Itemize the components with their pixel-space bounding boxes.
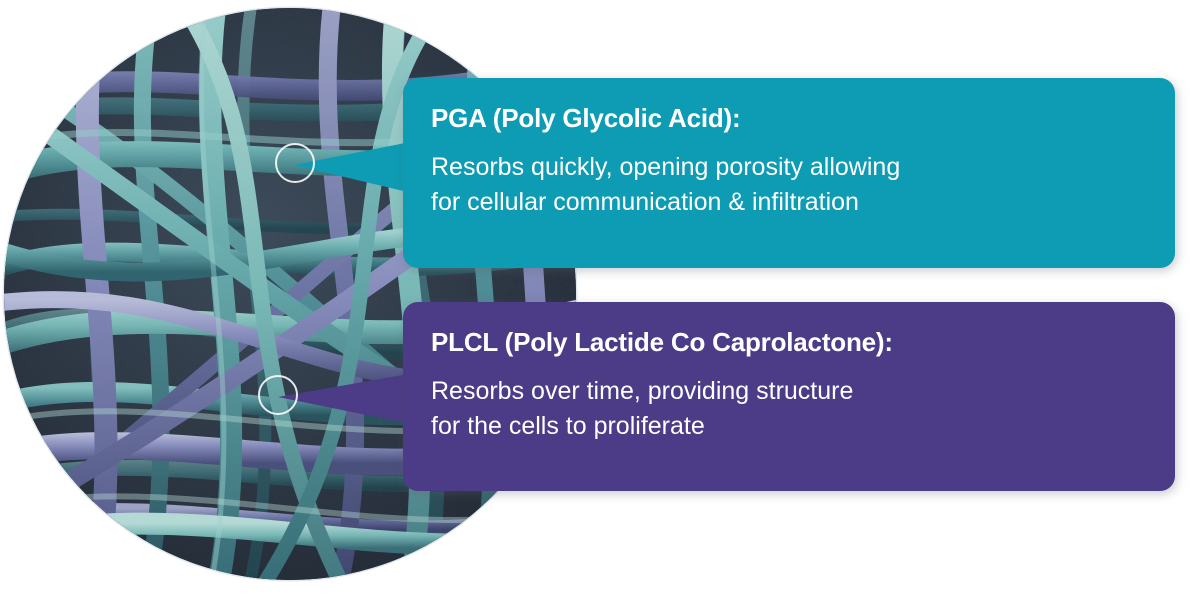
callout-plcl: PLCL (Poly Lactide Co Caprolactone): Res…: [403, 302, 1175, 491]
callout-pga: PGA (Poly Glycolic Acid): Resorbs quickl…: [403, 78, 1175, 268]
callout-pga-body-line-2: for cellular communication & infiltratio…: [431, 185, 1141, 221]
callout-plcl-body-line-2: for the cells to proliferate: [431, 409, 1141, 445]
callout-plcl-body: Resorbs over time, providing structure f…: [431, 374, 1141, 445]
callout-pga-body: Resorbs quickly, opening porosity allowi…: [431, 150, 1141, 221]
callout-pga-title: PGA (Poly Glycolic Acid):: [431, 104, 1141, 134]
figure-canvas: PGA (Poly Glycolic Acid): Resorbs quickl…: [0, 0, 1202, 596]
callout-plcl-body-line-1: Resorbs over time, providing structure: [431, 374, 1141, 410]
callout-pga-body-line-1: Resorbs quickly, opening porosity allowi…: [431, 150, 1141, 186]
callout-plcl-title: PLCL (Poly Lactide Co Caprolactone):: [431, 328, 1141, 358]
